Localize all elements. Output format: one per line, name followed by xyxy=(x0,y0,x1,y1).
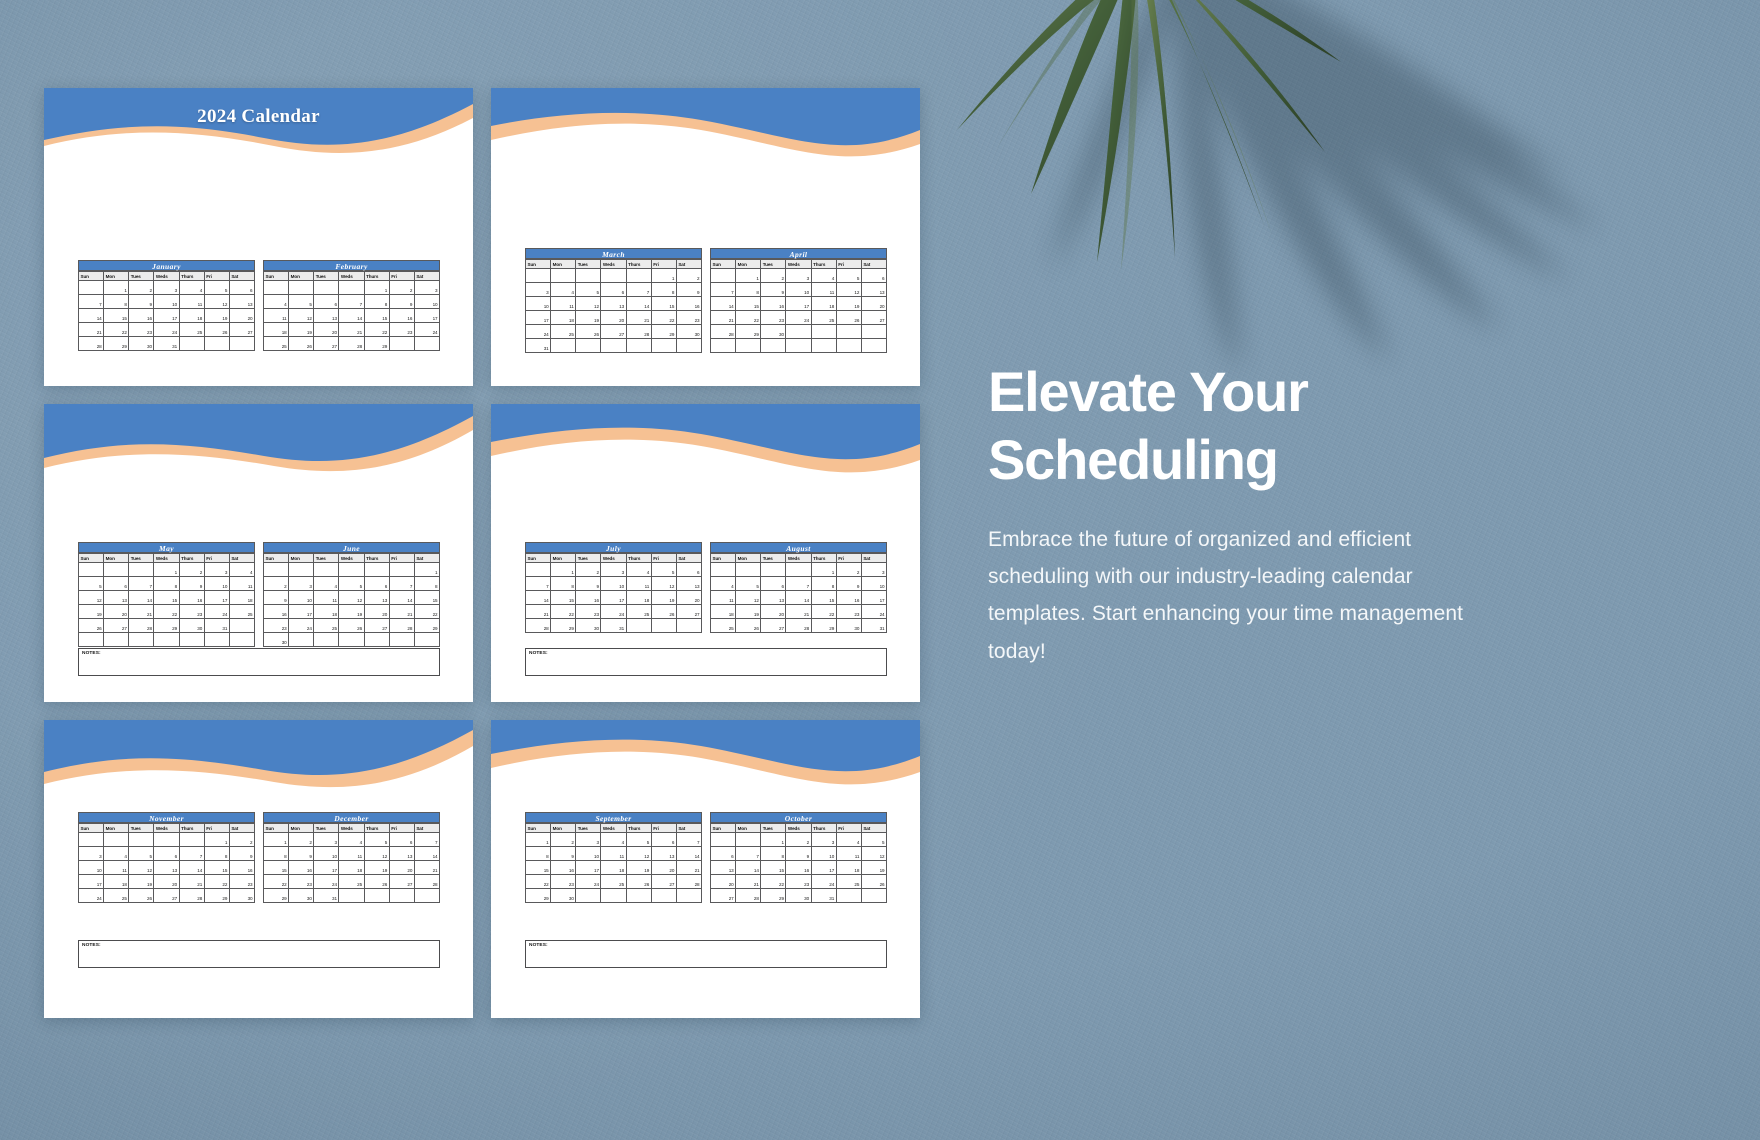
day-cell[interactable]: 7 xyxy=(339,295,364,309)
day-cell[interactable]: 8 xyxy=(104,295,129,309)
day-cell[interactable]: 11 xyxy=(264,309,289,323)
day-cell-empty[interactable] xyxy=(129,833,154,847)
day-cell[interactable]: 12 xyxy=(79,591,104,605)
day-cell-empty[interactable] xyxy=(711,269,736,283)
day-cell[interactable]: 10 xyxy=(414,295,439,309)
day-cell[interactable]: 13 xyxy=(761,591,786,605)
day-cell-empty[interactable] xyxy=(711,563,736,577)
day-cell[interactable]: 22 xyxy=(104,323,129,337)
day-cell[interactable]: 7 xyxy=(179,847,204,861)
day-cell[interactable]: 26 xyxy=(289,337,314,351)
day-cell[interactable]: 10 xyxy=(204,577,229,591)
day-cell[interactable]: 27 xyxy=(676,605,701,619)
day-cell-empty[interactable] xyxy=(576,889,601,903)
day-cell[interactable]: 3 xyxy=(601,563,626,577)
day-cell[interactable]: 15 xyxy=(761,861,786,875)
day-cell[interactable]: 7 xyxy=(129,577,154,591)
day-cell[interactable]: 11 xyxy=(601,847,626,861)
day-cell[interactable]: 11 xyxy=(811,283,836,297)
day-cell[interactable]: 4 xyxy=(229,563,254,577)
day-cell[interactable]: 8 xyxy=(651,283,676,297)
day-cell[interactable]: 18 xyxy=(339,861,364,875)
day-cell[interactable]: 21 xyxy=(676,861,701,875)
day-cell[interactable]: 1 xyxy=(811,563,836,577)
day-cell-empty[interactable] xyxy=(314,633,339,647)
day-cell[interactable]: 26 xyxy=(129,889,154,903)
day-cell[interactable]: 25 xyxy=(104,889,129,903)
day-cell[interactable]: 9 xyxy=(389,295,414,309)
day-cell-empty[interactable] xyxy=(129,563,154,577)
day-cell[interactable]: 1 xyxy=(526,833,551,847)
day-cell[interactable]: 20 xyxy=(364,605,389,619)
day-cell[interactable]: 23 xyxy=(129,323,154,337)
day-cell-empty[interactable] xyxy=(651,889,676,903)
day-cell-empty[interactable] xyxy=(576,339,601,353)
day-cell[interactable]: 26 xyxy=(576,325,601,339)
day-cell-empty[interactable] xyxy=(676,619,701,633)
day-cell[interactable]: 11 xyxy=(229,577,254,591)
day-cell[interactable]: 22 xyxy=(736,311,761,325)
day-cell-empty[interactable] xyxy=(414,633,439,647)
day-cell[interactable]: 20 xyxy=(861,297,886,311)
day-cell[interactable]: 27 xyxy=(711,889,736,903)
day-cell[interactable]: 2 xyxy=(179,563,204,577)
day-cell[interactable]: 16 xyxy=(786,861,811,875)
day-cell-empty[interactable] xyxy=(104,833,129,847)
day-cell[interactable]: 27 xyxy=(651,875,676,889)
day-cell-empty[interactable] xyxy=(129,633,154,647)
day-cell[interactable]: 26 xyxy=(204,323,229,337)
day-cell[interactable]: 10 xyxy=(861,577,886,591)
day-cell-empty[interactable] xyxy=(389,889,414,903)
day-cell[interactable]: 26 xyxy=(736,619,761,633)
day-cell-empty[interactable] xyxy=(389,337,414,351)
day-cell[interactable]: 27 xyxy=(154,889,179,903)
day-cell[interactable]: 29 xyxy=(364,337,389,351)
day-cell-empty[interactable] xyxy=(601,339,626,353)
day-cell[interactable]: 6 xyxy=(711,847,736,861)
day-cell[interactable]: 10 xyxy=(601,577,626,591)
day-cell[interactable]: 5 xyxy=(651,563,676,577)
day-cell[interactable]: 4 xyxy=(104,847,129,861)
day-cell-empty[interactable] xyxy=(79,633,104,647)
day-cell[interactable]: 4 xyxy=(626,563,651,577)
day-cell[interactable]: 10 xyxy=(314,847,339,861)
day-cell[interactable]: 12 xyxy=(651,577,676,591)
day-cell[interactable]: 18 xyxy=(626,591,651,605)
day-cell-empty[interactable] xyxy=(526,269,551,283)
day-cell[interactable]: 17 xyxy=(786,297,811,311)
day-cell[interactable]: 3 xyxy=(861,563,886,577)
day-cell[interactable]: 23 xyxy=(229,875,254,889)
day-cell[interactable]: 15 xyxy=(811,591,836,605)
day-cell[interactable]: 6 xyxy=(314,295,339,309)
day-cell[interactable]: 24 xyxy=(786,311,811,325)
day-cell[interactable]: 5 xyxy=(836,269,861,283)
day-cell[interactable]: 24 xyxy=(414,323,439,337)
day-cell[interactable]: 3 xyxy=(786,269,811,283)
day-cell[interactable]: 2 xyxy=(786,833,811,847)
day-cell[interactable]: 17 xyxy=(811,861,836,875)
day-cell[interactable]: 8 xyxy=(264,847,289,861)
calendar-page-nov-dec[interactable]: November Sun Mon Tues Weds Thurs Fri Sat… xyxy=(44,720,473,1018)
day-cell[interactable]: 4 xyxy=(339,833,364,847)
day-cell[interactable]: 26 xyxy=(861,875,886,889)
day-cell[interactable]: 12 xyxy=(204,295,229,309)
day-cell[interactable]: 21 xyxy=(179,875,204,889)
day-cell[interactable]: 9 xyxy=(761,283,786,297)
day-cell[interactable]: 11 xyxy=(104,861,129,875)
day-cell[interactable]: 22 xyxy=(651,311,676,325)
day-cell[interactable]: 25 xyxy=(836,875,861,889)
day-cell[interactable]: 29 xyxy=(526,889,551,903)
day-cell-empty[interactable] xyxy=(339,889,364,903)
day-cell[interactable]: 12 xyxy=(289,309,314,323)
day-cell-empty[interactable] xyxy=(576,269,601,283)
day-cell[interactable]: 13 xyxy=(861,283,886,297)
day-cell[interactable]: 15 xyxy=(551,591,576,605)
day-cell[interactable]: 8 xyxy=(811,577,836,591)
day-cell[interactable]: 10 xyxy=(526,297,551,311)
day-cell[interactable]: 17 xyxy=(79,875,104,889)
day-cell[interactable]: 4 xyxy=(264,295,289,309)
day-cell[interactable]: 29 xyxy=(104,337,129,351)
day-cell[interactable]: 2 xyxy=(576,563,601,577)
day-cell[interactable]: 20 xyxy=(651,861,676,875)
day-cell[interactable]: 1 xyxy=(104,281,129,295)
day-cell[interactable]: 12 xyxy=(626,847,651,861)
day-cell[interactable]: 25 xyxy=(314,619,339,633)
month-table-july[interactable]: July Sun Mon Tues Weds Thurs Fri Sat 123… xyxy=(525,542,702,633)
day-cell-empty[interactable] xyxy=(676,339,701,353)
day-cell[interactable]: 13 xyxy=(229,295,254,309)
day-cell[interactable]: 17 xyxy=(861,591,886,605)
day-cell[interactable]: 5 xyxy=(576,283,601,297)
day-cell-empty[interactable] xyxy=(229,633,254,647)
day-cell[interactable]: 8 xyxy=(526,847,551,861)
day-cell[interactable]: 24 xyxy=(576,875,601,889)
day-cell[interactable]: 8 xyxy=(551,577,576,591)
month-table-january[interactable]: January Sun Mon Tues Weds Thurs Fri Sat … xyxy=(78,260,255,351)
day-cell[interactable]: 14 xyxy=(389,591,414,605)
day-cell[interactable]: 15 xyxy=(526,861,551,875)
day-cell[interactable]: 7 xyxy=(79,295,104,309)
day-cell[interactable]: 31 xyxy=(314,889,339,903)
day-cell[interactable]: 31 xyxy=(154,337,179,351)
day-cell[interactable]: 5 xyxy=(364,833,389,847)
day-cell[interactable]: 26 xyxy=(836,311,861,325)
day-cell-empty[interactable] xyxy=(626,619,651,633)
day-cell[interactable]: 13 xyxy=(154,861,179,875)
day-cell[interactable]: 11 xyxy=(179,295,204,309)
day-cell[interactable]: 15 xyxy=(414,591,439,605)
day-cell[interactable]: 17 xyxy=(314,861,339,875)
day-cell[interactable]: 13 xyxy=(601,297,626,311)
day-cell[interactable]: 28 xyxy=(179,889,204,903)
day-cell[interactable]: 17 xyxy=(204,591,229,605)
day-cell[interactable]: 21 xyxy=(711,311,736,325)
day-cell[interactable]: 14 xyxy=(626,297,651,311)
day-cell[interactable]: 5 xyxy=(129,847,154,861)
day-cell-empty[interactable] xyxy=(289,633,314,647)
day-cell[interactable]: 23 xyxy=(786,875,811,889)
day-cell[interactable]: 11 xyxy=(836,847,861,861)
day-cell[interactable]: 4 xyxy=(179,281,204,295)
month-table-september[interactable]: September Sun Mon Tues Weds Thurs Fri Sa… xyxy=(525,812,702,903)
day-cell[interactable]: 10 xyxy=(811,847,836,861)
day-cell[interactable]: 18 xyxy=(314,605,339,619)
month-table-august[interactable]: August Sun Mon Tues Weds Thurs Fri Sat 1… xyxy=(710,542,887,633)
day-cell[interactable]: 23 xyxy=(676,311,701,325)
day-cell[interactable]: 19 xyxy=(626,861,651,875)
day-cell[interactable]: 1 xyxy=(651,269,676,283)
day-cell-empty[interactable] xyxy=(861,339,886,353)
day-cell[interactable]: 9 xyxy=(551,847,576,861)
day-cell[interactable]: 29 xyxy=(414,619,439,633)
day-cell[interactable]: 13 xyxy=(364,591,389,605)
day-cell-empty[interactable] xyxy=(601,889,626,903)
day-cell-empty[interactable] xyxy=(264,563,289,577)
day-cell-empty[interactable] xyxy=(626,889,651,903)
day-cell[interactable]: 15 xyxy=(364,309,389,323)
day-cell[interactable]: 16 xyxy=(836,591,861,605)
day-cell[interactable]: 9 xyxy=(836,577,861,591)
day-cell[interactable]: 4 xyxy=(836,833,861,847)
day-cell[interactable]: 7 xyxy=(626,283,651,297)
day-cell[interactable]: 18 xyxy=(711,605,736,619)
day-cell[interactable]: 21 xyxy=(129,605,154,619)
day-cell[interactable]: 4 xyxy=(811,269,836,283)
day-cell[interactable]: 15 xyxy=(651,297,676,311)
day-cell[interactable]: 3 xyxy=(314,833,339,847)
day-cell[interactable]: 29 xyxy=(651,325,676,339)
day-cell[interactable]: 24 xyxy=(861,605,886,619)
day-cell[interactable]: 4 xyxy=(601,833,626,847)
day-cell-empty[interactable] xyxy=(314,281,339,295)
day-cell[interactable]: 2 xyxy=(129,281,154,295)
day-cell[interactable]: 4 xyxy=(711,577,736,591)
day-cell[interactable]: 25 xyxy=(626,605,651,619)
day-cell[interactable]: 7 xyxy=(389,577,414,591)
day-cell[interactable]: 7 xyxy=(711,283,736,297)
day-cell[interactable]: 24 xyxy=(289,619,314,633)
day-cell[interactable]: 1 xyxy=(761,833,786,847)
day-cell[interactable]: 19 xyxy=(836,297,861,311)
day-cell[interactable]: 29 xyxy=(811,619,836,633)
day-cell-empty[interactable] xyxy=(811,339,836,353)
day-cell[interactable]: 6 xyxy=(104,577,129,591)
day-cell-empty[interactable] xyxy=(736,563,761,577)
day-cell[interactable]: 28 xyxy=(736,889,761,903)
day-cell[interactable]: 26 xyxy=(626,875,651,889)
day-cell[interactable]: 20 xyxy=(154,875,179,889)
day-cell[interactable]: 8 xyxy=(154,577,179,591)
day-cell[interactable]: 25 xyxy=(179,323,204,337)
day-cell[interactable]: 19 xyxy=(576,311,601,325)
day-cell[interactable]: 20 xyxy=(104,605,129,619)
day-cell[interactable]: 18 xyxy=(229,591,254,605)
day-cell-empty[interactable] xyxy=(651,339,676,353)
day-cell-empty[interactable] xyxy=(414,889,439,903)
day-cell[interactable]: 6 xyxy=(761,577,786,591)
day-cell[interactable]: 19 xyxy=(79,605,104,619)
day-cell[interactable]: 14 xyxy=(414,847,439,861)
day-cell[interactable]: 7 xyxy=(786,577,811,591)
day-cell-empty[interactable] xyxy=(339,633,364,647)
day-cell[interactable]: 17 xyxy=(526,311,551,325)
day-cell[interactable]: 8 xyxy=(204,847,229,861)
day-cell[interactable]: 9 xyxy=(229,847,254,861)
day-cell[interactable]: 22 xyxy=(761,875,786,889)
day-cell[interactable]: 29 xyxy=(204,889,229,903)
day-cell[interactable]: 23 xyxy=(389,323,414,337)
day-cell[interactable]: 21 xyxy=(414,861,439,875)
day-cell[interactable]: 23 xyxy=(761,311,786,325)
day-cell[interactable]: 25 xyxy=(711,619,736,633)
day-cell-empty[interactable] xyxy=(79,281,104,295)
day-cell-empty[interactable] xyxy=(676,889,701,903)
day-cell-empty[interactable] xyxy=(289,563,314,577)
day-cell[interactable]: 28 xyxy=(711,325,736,339)
day-cell[interactable]: 29 xyxy=(736,325,761,339)
day-cell[interactable]: 18 xyxy=(551,311,576,325)
day-cell[interactable]: 18 xyxy=(264,323,289,337)
day-cell[interactable]: 24 xyxy=(811,875,836,889)
day-cell[interactable]: 20 xyxy=(761,605,786,619)
day-cell[interactable]: 2 xyxy=(676,269,701,283)
day-cell-empty[interactable] xyxy=(154,633,179,647)
day-cell-empty[interactable] xyxy=(314,563,339,577)
day-cell[interactable]: 12 xyxy=(364,847,389,861)
day-cell[interactable]: 8 xyxy=(364,295,389,309)
month-table-march[interactable]: March Sun Mon Tues Weds Thurs Fri Sat 12… xyxy=(525,248,702,353)
day-cell[interactable]: 8 xyxy=(414,577,439,591)
day-cell[interactable]: 23 xyxy=(264,619,289,633)
day-cell[interactable]: 22 xyxy=(551,605,576,619)
day-cell-empty[interactable] xyxy=(811,325,836,339)
day-cell[interactable]: 16 xyxy=(761,297,786,311)
day-cell[interactable]: 10 xyxy=(576,847,601,861)
day-cell[interactable]: 30 xyxy=(551,889,576,903)
day-cell[interactable]: 19 xyxy=(129,875,154,889)
day-cell[interactable]: 20 xyxy=(314,323,339,337)
day-cell[interactable]: 31 xyxy=(861,619,886,633)
day-cell-empty[interactable] xyxy=(204,633,229,647)
day-cell[interactable]: 21 xyxy=(79,323,104,337)
calendar-page-mar-apr[interactable]: March Sun Mon Tues Weds Thurs Fri Sat 12… xyxy=(491,88,920,386)
day-cell[interactable]: 19 xyxy=(651,591,676,605)
day-cell[interactable]: 4 xyxy=(551,283,576,297)
day-cell[interactable]: 30 xyxy=(289,889,314,903)
day-cell[interactable]: 5 xyxy=(861,833,886,847)
day-cell[interactable]: 6 xyxy=(651,833,676,847)
day-cell[interactable]: 10 xyxy=(79,861,104,875)
day-cell-empty[interactable] xyxy=(626,339,651,353)
day-cell[interactable]: 6 xyxy=(389,833,414,847)
day-cell[interactable]: 12 xyxy=(339,591,364,605)
day-cell[interactable]: 6 xyxy=(364,577,389,591)
day-cell[interactable]: 13 xyxy=(711,861,736,875)
day-cell[interactable]: 5 xyxy=(289,295,314,309)
day-cell[interactable]: 16 xyxy=(229,861,254,875)
day-cell[interactable]: 29 xyxy=(761,889,786,903)
day-cell[interactable]: 31 xyxy=(204,619,229,633)
day-cell[interactable]: 6 xyxy=(601,283,626,297)
day-cell[interactable]: 23 xyxy=(551,875,576,889)
day-cell[interactable]: 2 xyxy=(289,833,314,847)
day-cell[interactable]: 30 xyxy=(761,325,786,339)
day-cell[interactable]: 5 xyxy=(736,577,761,591)
day-cell[interactable]: 26 xyxy=(79,619,104,633)
day-cell-empty[interactable] xyxy=(179,633,204,647)
day-cell[interactable]: 23 xyxy=(289,875,314,889)
day-cell[interactable]: 31 xyxy=(526,339,551,353)
day-cell[interactable]: 30 xyxy=(129,337,154,351)
day-cell[interactable]: 19 xyxy=(339,605,364,619)
day-cell[interactable]: 11 xyxy=(314,591,339,605)
day-cell[interactable]: 4 xyxy=(314,577,339,591)
day-cell-empty[interactable] xyxy=(364,563,389,577)
day-cell[interactable]: 27 xyxy=(314,337,339,351)
day-cell-empty[interactable] xyxy=(861,889,886,903)
notes-box[interactable]: NOTES: xyxy=(525,648,887,676)
day-cell[interactable]: 16 xyxy=(389,309,414,323)
day-cell[interactable]: 19 xyxy=(736,605,761,619)
day-cell[interactable]: 24 xyxy=(601,605,626,619)
day-cell-empty[interactable] xyxy=(736,833,761,847)
day-cell[interactable]: 18 xyxy=(179,309,204,323)
day-cell[interactable]: 3 xyxy=(414,281,439,295)
day-cell[interactable]: 23 xyxy=(576,605,601,619)
day-cell[interactable]: 3 xyxy=(576,833,601,847)
day-cell-empty[interactable] xyxy=(179,337,204,351)
day-cell[interactable]: 27 xyxy=(389,875,414,889)
day-cell[interactable]: 21 xyxy=(626,311,651,325)
day-cell[interactable]: 20 xyxy=(711,875,736,889)
day-cell[interactable]: 14 xyxy=(736,861,761,875)
day-cell[interactable]: 22 xyxy=(526,875,551,889)
day-cell[interactable]: 12 xyxy=(836,283,861,297)
day-cell[interactable]: 14 xyxy=(129,591,154,605)
day-cell[interactable]: 18 xyxy=(601,861,626,875)
day-cell[interactable]: 30 xyxy=(786,889,811,903)
notes-box[interactable]: NOTES: xyxy=(78,940,440,968)
day-cell[interactable]: 30 xyxy=(229,889,254,903)
day-cell-empty[interactable] xyxy=(289,281,314,295)
day-cell[interactable]: 21 xyxy=(339,323,364,337)
day-cell-empty[interactable] xyxy=(389,563,414,577)
day-cell[interactable]: 24 xyxy=(526,325,551,339)
day-cell[interactable]: 11 xyxy=(711,591,736,605)
day-cell[interactable]: 28 xyxy=(626,325,651,339)
day-cell[interactable]: 12 xyxy=(129,861,154,875)
day-cell[interactable]: 5 xyxy=(79,577,104,591)
month-table-november[interactable]: November Sun Mon Tues Weds Thurs Fri Sat… xyxy=(78,812,255,903)
day-cell[interactable]: 17 xyxy=(601,591,626,605)
day-cell[interactable]: 27 xyxy=(229,323,254,337)
day-cell-empty[interactable] xyxy=(389,633,414,647)
day-cell[interactable]: 22 xyxy=(364,323,389,337)
day-cell-empty[interactable] xyxy=(364,633,389,647)
day-cell[interactable]: 13 xyxy=(389,847,414,861)
day-cell[interactable]: 7 xyxy=(526,577,551,591)
day-cell[interactable]: 25 xyxy=(551,325,576,339)
month-table-february[interactable]: February Sun Mon Tues Weds Thurs Fri Sat… xyxy=(263,260,440,351)
day-cell[interactable]: 1 xyxy=(551,563,576,577)
day-cell[interactable]: 9 xyxy=(264,591,289,605)
day-cell[interactable]: 1 xyxy=(154,563,179,577)
day-cell[interactable]: 2 xyxy=(264,577,289,591)
